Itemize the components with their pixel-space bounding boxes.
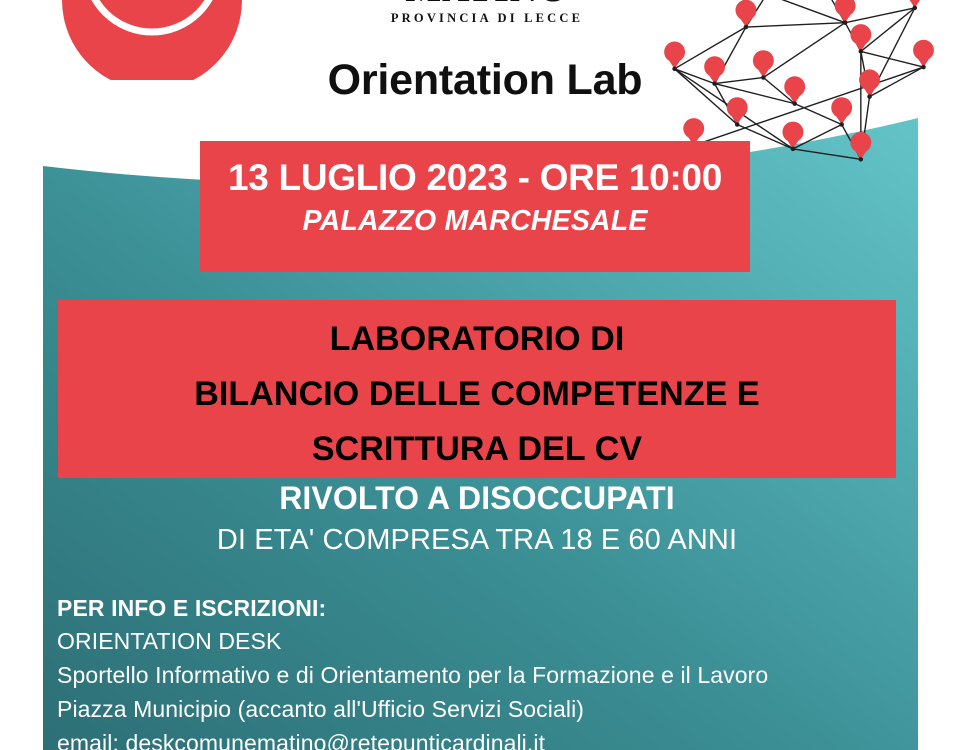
course-title-block: LABORATORIO DI BILANCIO DELLE COMPETENZE… bbox=[58, 300, 896, 478]
course-title-line: LABORATORIO DI bbox=[58, 312, 896, 367]
course-title-line: SCRITTURA DEL CV bbox=[58, 422, 896, 477]
contact-section: PER INFO E ISCRIZIONI: ORIENTATION DESK … bbox=[57, 592, 927, 750]
page-title: Orientation Lab bbox=[140, 58, 830, 103]
event-venue: PALAZZO MARCHESALE bbox=[200, 205, 750, 238]
matino-crest: MATINO PROVINCIA DI LECCE bbox=[372, 0, 602, 25]
crest-name: MATINO bbox=[372, 0, 602, 8]
contact-address: Piazza Municipio (accanto all'Ufficio Se… bbox=[57, 693, 927, 727]
course-title-line: BILANCIO DELLE COMPETENZE E bbox=[58, 367, 896, 422]
contact-description: Sportello Informativo e di Orientamento … bbox=[57, 659, 927, 693]
contact-org: ORIENTATION DESK bbox=[57, 625, 927, 659]
crest-subtitle: PROVINCIA DI LECCE bbox=[372, 12, 602, 25]
audience-age-range: DI ETA' COMPRESA TRA 18 E 60 ANNI bbox=[58, 522, 896, 560]
contact-email: email: deskcomunematino@retepunticardina… bbox=[57, 727, 927, 750]
audience-section: RIVOLTO A DISOCCUPATI DI ETA' COMPRESA T… bbox=[58, 478, 896, 560]
event-poster: MATINO PROVINCIA DI LECCE Orientation La… bbox=[0, 0, 960, 750]
audience-main-line: RIVOLTO A DISOCCUPATI bbox=[58, 478, 896, 518]
contact-heading: PER INFO E ISCRIZIONI: bbox=[57, 592, 927, 625]
event-datetime: 13 LUGLIO 2023 - ORE 10:00 bbox=[200, 155, 750, 201]
date-banner: 13 LUGLIO 2023 - ORE 10:00 PALAZZO MARCH… bbox=[200, 141, 750, 272]
